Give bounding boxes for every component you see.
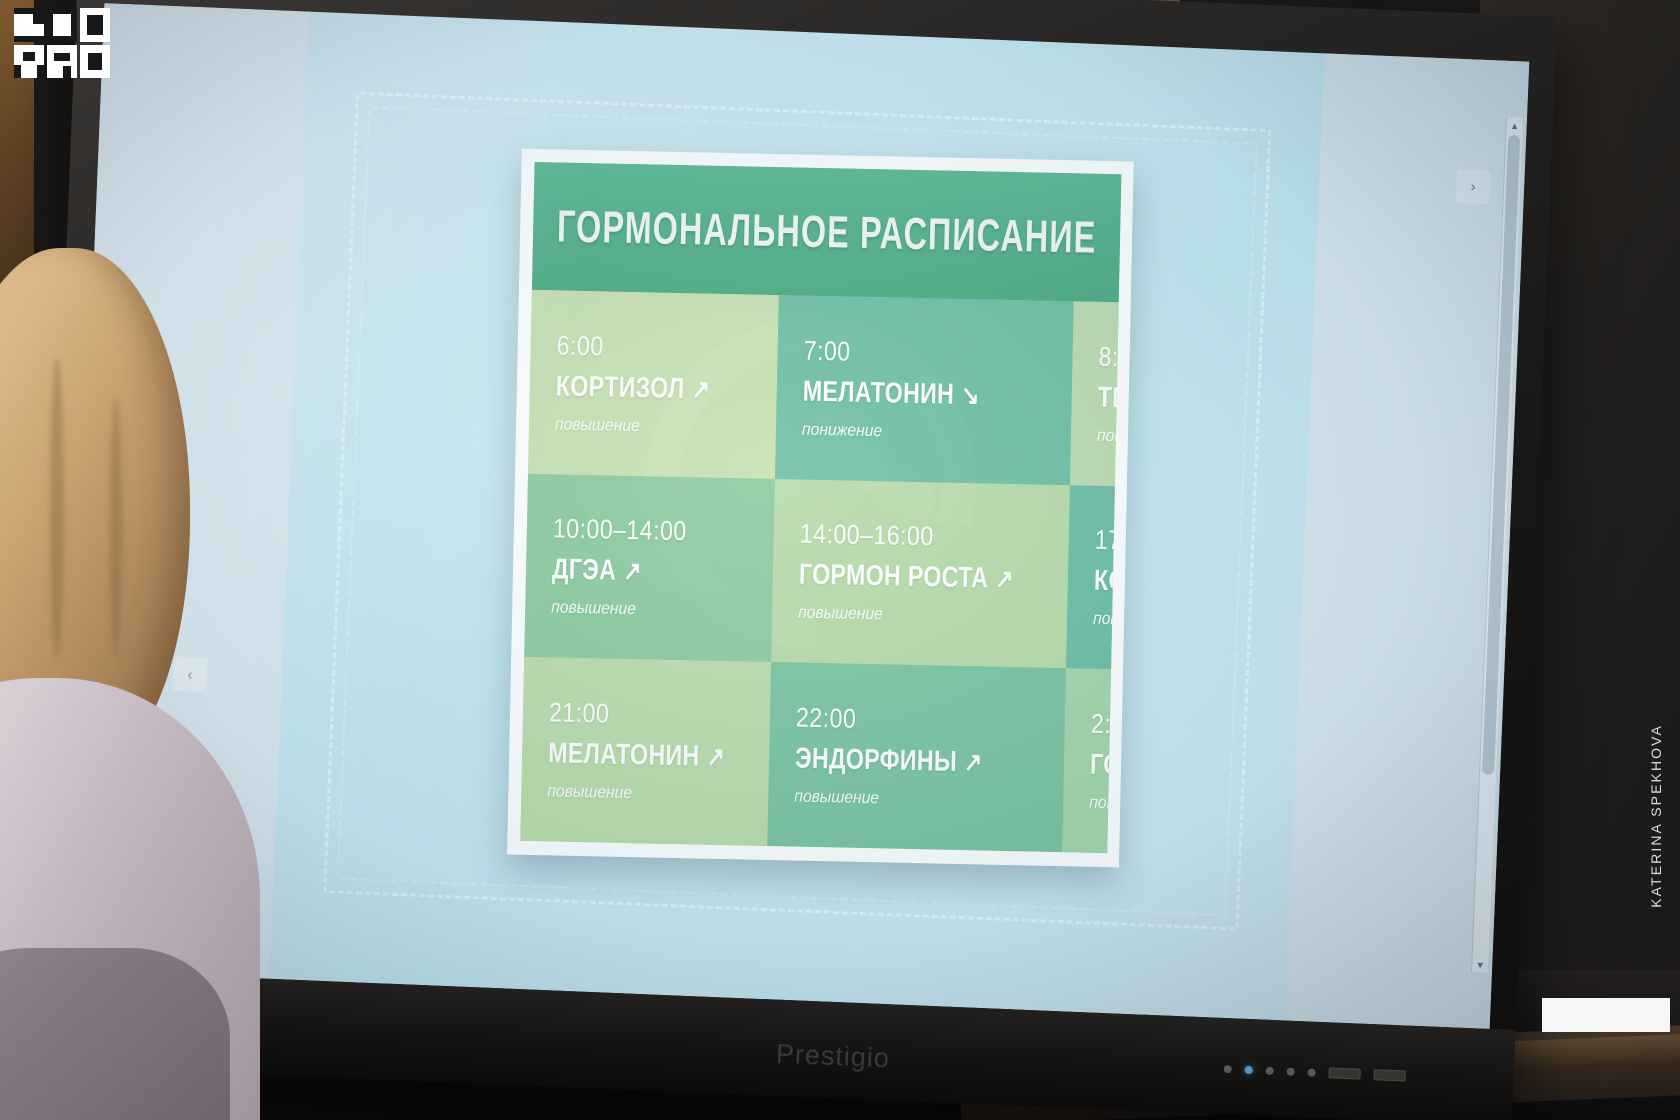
cell-direction: повышение [1089, 793, 1121, 818]
cell-hormone: КОРТИЗОЛ ↘ [1094, 565, 1122, 602]
arrow-down-right-icon: ↘ [961, 382, 980, 409]
power-led-icon [1245, 1065, 1253, 1073]
cell-direction: повышение [798, 603, 1046, 628]
logo-glyph-p [14, 45, 44, 79]
status-led [1266, 1066, 1274, 1074]
status-led [1287, 1067, 1295, 1075]
cell-direction: понижение [802, 419, 1050, 444]
hormone-cell-5[interactable]: 14:00–16:00 ГОРМОН РОСТА ↗ повышение [771, 479, 1069, 669]
arrow-up-right-icon: ↗ [706, 744, 725, 771]
arrow-up-right-icon: ↗ [995, 566, 1014, 593]
hormone-cell-2[interactable]: 7:00 МЕЛАТОНИН ↘ понижение [775, 295, 1073, 485]
cell-time: 6:00 [556, 330, 747, 365]
geopro-logo [14, 8, 110, 78]
cell-hormone: МЕЛАТОНИН ↗ [548, 738, 726, 775]
device-brand-label: Prestigio [775, 1039, 890, 1075]
page-title: ГОРМОНАЛЬНОЕ РАСПИСАНИЕ [556, 200, 1096, 263]
logo-glyph-g [14, 8, 44, 42]
scroll-down-icon[interactable]: ▾ [1472, 956, 1489, 973]
cell-hormone-label: ЭНДОРФИНЫ [795, 743, 957, 779]
logo-glyph-o [80, 8, 110, 42]
hormone-cell-7[interactable]: 21:00 МЕЛАТОНИН ↗ повышение [520, 657, 771, 846]
hormone-grid: 6:00 КОРТИЗОЛ ↗ повышение 7:00 [520, 290, 1118, 853]
slide-viewer[interactable]: ГОРМОНАЛЬНОЕ РАСПИСАНИЕ 6:00 [65, 3, 1529, 1029]
cell-time: 14:00–16:00 [800, 519, 1032, 555]
cell-time: 21:00 [549, 698, 740, 733]
cell-hormone: КОРТИЗОЛ ↗ [556, 370, 734, 407]
cell-time: 10:00–14:00 [553, 514, 744, 549]
arrow-up-right-icon: ↗ [964, 749, 983, 776]
hormone-cell-8[interactable]: 22:00 ЭНДОРФИНЫ ↗ повышение [768, 662, 1066, 852]
hormone-cell-4[interactable]: 10:00–14:00 ДГЭА ↗ повышение [524, 474, 775, 663]
photographer-credit: KATERINA SPEKHOVA [1648, 724, 1664, 908]
cell-time: 7:00 [804, 335, 1036, 371]
hormone-cell-1[interactable]: 6:00 КОРТИЗОЛ ↗ повышение [528, 290, 779, 479]
cell-direction: повышение [547, 782, 751, 806]
logo-glyph-r [47, 45, 77, 79]
scroll-up-icon[interactable]: ▴ [1506, 117, 1523, 134]
cell-direction: повышение [1097, 426, 1122, 451]
status-led [1307, 1068, 1315, 1076]
cell-hormone: МЕЛАТОНИН ↘ [803, 375, 1019, 412]
cell-time: 8:00 [1098, 342, 1121, 378]
cell-hormone: ГОРМОН РОСТА ↗ [799, 559, 1015, 596]
card-paper: ГОРМОНАЛЬНОЕ РАСПИСАНИЕ 6:00 [507, 149, 1134, 868]
usb-port-icon [1328, 1067, 1360, 1079]
cell-direction: понижение [1093, 609, 1122, 634]
arrow-up-right-icon: ↗ [623, 558, 642, 585]
hormone-cell-6[interactable]: 17:00 КОРТИЗОЛ ↘ понижение [1066, 485, 1121, 675]
cell-direction: повышение [551, 598, 755, 622]
usb-port-icon [1373, 1069, 1405, 1081]
cell-hormone: ДГЭА ↗ [552, 554, 730, 591]
arrow-up-right-icon: ↗ [692, 376, 711, 403]
hormone-cell-3[interactable]: 8:00 ТЕСТОСТЕРОН ↗ повышение [1070, 301, 1122, 491]
display-monitor: ГОРМОНАЛЬНОЕ РАСПИСАНИЕ 6:00 [33, 0, 1557, 1120]
viewer-person [0, 248, 240, 1120]
cell-hormone-label: ГОРМОН РОСТА [1090, 749, 1122, 786]
logo-glyph-o2 [80, 45, 110, 79]
cell-hormone: ГОРМОН РОСТА ↗ [1090, 749, 1122, 786]
cell-direction: повышение [794, 787, 1042, 812]
cell-hormone-label: КОРТИЗОЛ [1094, 565, 1122, 601]
cell-hormone-label: ДГЭА [552, 554, 617, 588]
corner-tab [1542, 998, 1670, 1032]
monitor-screen-area: ГОРМОНАЛЬНОЕ РАСПИСАНИЕ 6:00 [65, 3, 1529, 1029]
status-led [1224, 1065, 1232, 1073]
hormone-cell-9[interactable]: 2:00 ГОРМОН РОСТА ↗ повышение [1062, 669, 1121, 854]
nav-next-button[interactable]: › [1455, 169, 1490, 204]
card-title-band: ГОРМОНАЛЬНОЕ РАСПИСАНИЕ [532, 162, 1122, 302]
cell-hormone-label: КОРТИЗОЛ [556, 370, 685, 406]
cell-time: 17:00 [1094, 525, 1121, 561]
cell-time: 22:00 [796, 703, 1028, 739]
card-body: ГОРМОНАЛЬНОЕ РАСПИСАНИЕ 6:00 [520, 162, 1121, 853]
hormone-schedule-card: ГОРМОНАЛЬНОЕ РАСПИСАНИЕ 6:00 [507, 149, 1134, 868]
cell-hormone-label: МЕЛАТОНИН [548, 738, 700, 774]
cell-time: 2:00 [1091, 709, 1122, 745]
indicator-cluster [1224, 1063, 1406, 1081]
cell-hormone-label: ТЕСТОСТЕРОН [1097, 382, 1121, 419]
shoulder-shadow [0, 948, 230, 1120]
cell-direction: повышение [555, 414, 759, 438]
cell-hormone: ТЕСТОСТЕРОН ↗ [1097, 382, 1121, 419]
logo-glyph-e [47, 8, 77, 42]
cell-hormone-label: ГОРМОН РОСТА [799, 559, 989, 596]
cell-hormone-label: МЕЛАТОНИН [803, 375, 955, 411]
photo-scene: ГОРМОНАЛЬНОЕ РАСПИСАНИЕ 6:00 [0, 0, 1680, 1120]
cell-hormone: ЭНДОРФИНЫ ↗ [795, 743, 1011, 780]
